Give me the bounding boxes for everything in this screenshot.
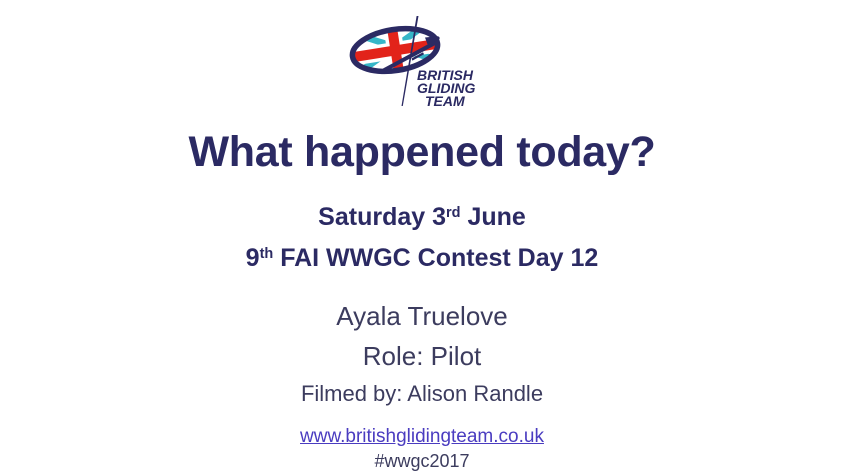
filmed-by-credit: Filmed by: Alison Randle <box>0 383 844 405</box>
website-link[interactable]: www.britishglidingteam.co.uk <box>0 427 844 446</box>
subtitle-event-ordinal: th <box>260 246 274 262</box>
hashtag-label: #wwgc2017 <box>0 452 844 470</box>
subtitle-date-ordinal: rd <box>446 205 461 221</box>
logo-text-line3: TEAM <box>425 93 465 109</box>
presenter-name: Ayala Truelove <box>0 303 844 329</box>
british-gliding-team-logo: BRITISH GLIDING TEAM <box>339 14 499 118</box>
subtitle-event-prefix: 9 <box>246 244 260 272</box>
title-slide: BRITISH GLIDING TEAM What happened today… <box>0 0 844 475</box>
logo-graphic-icon: BRITISH GLIDING TEAM <box>339 14 499 118</box>
subtitle-date-prefix: Saturday 3 <box>318 203 446 231</box>
subtitle-date: Saturday 3rd June <box>0 205 844 230</box>
subtitle-event: 9th FAI WWGC Contest Day 12 <box>0 246 844 271</box>
subtitle-event-suffix: FAI WWGC Contest Day 12 <box>273 244 598 272</box>
page-title: What happened today? <box>0 131 844 174</box>
logo-container: BRITISH GLIDING TEAM <box>0 14 844 122</box>
presenter-role: Role: Pilot <box>0 343 844 369</box>
subtitle-date-suffix: June <box>461 203 526 231</box>
